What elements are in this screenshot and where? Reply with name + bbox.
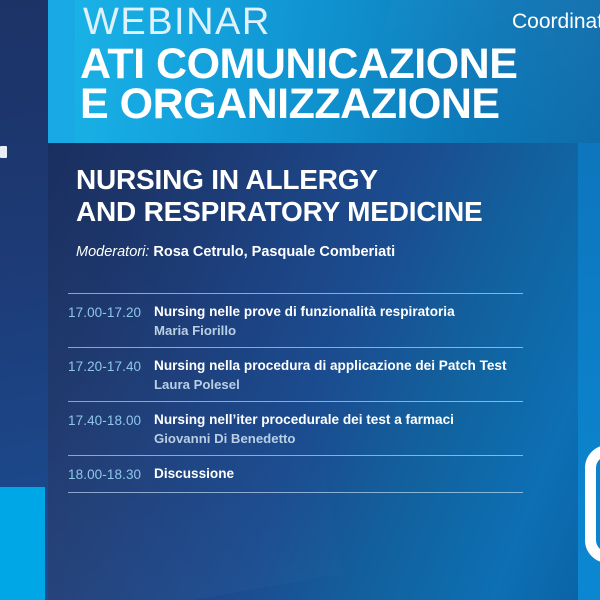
- cyan-accent-bar-top: [48, 0, 75, 143]
- logo-fragment-icon: [0, 146, 7, 158]
- schedule-body: Nursing nella procedura di applicazione …: [154, 357, 523, 393]
- session-title: NURSING IN ALLERGY AND RESPIRATORY MEDIC…: [76, 164, 482, 227]
- schedule-row: 17.40-18.00 Nursing nell’iter procedural…: [68, 401, 523, 455]
- cyan-accent-block-bottom: [0, 487, 45, 600]
- schedule-speaker: Laura Polesel: [154, 376, 523, 393]
- schedule-row: 17.20-17.40 Nursing nella procedura di a…: [68, 347, 523, 401]
- moderators: Moderatori: Rosa Cetrulo, Pasquale Combe…: [76, 244, 395, 261]
- coordinator-label: Coordinato: [512, 9, 600, 34]
- schedule-talk-title: Nursing nell’iter procedurale dei test a…: [154, 411, 523, 429]
- schedule-time: 18.00-18.30: [68, 465, 154, 483]
- schedule-body: Nursing nelle prove di funzionalità resp…: [154, 303, 523, 339]
- schedule-time: 17.00-17.20: [68, 303, 154, 321]
- schedule-row: 17.00-17.20 Nursing nelle prove di funzi…: [68, 293, 523, 347]
- corner-logo-mark-icon: [585, 445, 600, 563]
- moderators-names: Rosa Cetrulo, Pasquale Comberiati: [153, 244, 395, 260]
- session-title-line1: NURSING IN ALLERGY: [76, 164, 378, 195]
- webinar-label: WEBINAR: [83, 3, 271, 41]
- schedule-speaker: Maria Fiorillo: [154, 322, 523, 339]
- schedule-time: 17.40-18.00: [68, 411, 154, 429]
- schedule-body: Nursing nell’iter procedurale dei test a…: [154, 411, 523, 447]
- schedule-talk-title: Nursing nelle prove di funzionalità resp…: [154, 303, 523, 321]
- schedule-talk-title: Discussione: [154, 465, 523, 483]
- session-title-line2: AND RESPIRATORY MEDICINE: [76, 196, 482, 228]
- schedule-body: Discussione: [154, 465, 523, 483]
- event-title: ATI COMUNICAZIONE E ORGANIZZAZIONE: [80, 44, 517, 125]
- schedule-time: 17.20-17.40: [68, 357, 154, 375]
- moderators-label: Moderatori:: [76, 244, 149, 260]
- schedule-list: 17.00-17.20 Nursing nelle prove di funzi…: [68, 293, 523, 493]
- schedule-row: 18.00-18.30 Discussione: [68, 455, 523, 492]
- main-panel: NURSING IN ALLERGY AND RESPIRATORY MEDIC…: [48, 143, 578, 600]
- schedule-talk-title: Nursing nella procedura di applicazione …: [154, 357, 523, 375]
- schedule-speaker: Giovanni Di Benedetto: [154, 430, 523, 447]
- event-title-line2: E ORGANIZZAZIONE: [80, 84, 517, 124]
- webinar-program-slide: WEBINAR Coordinato ATI COMUNICAZIONE E O…: [0, 0, 600, 600]
- header-band: WEBINAR Coordinato ATI COMUNICAZIONE E O…: [75, 0, 600, 143]
